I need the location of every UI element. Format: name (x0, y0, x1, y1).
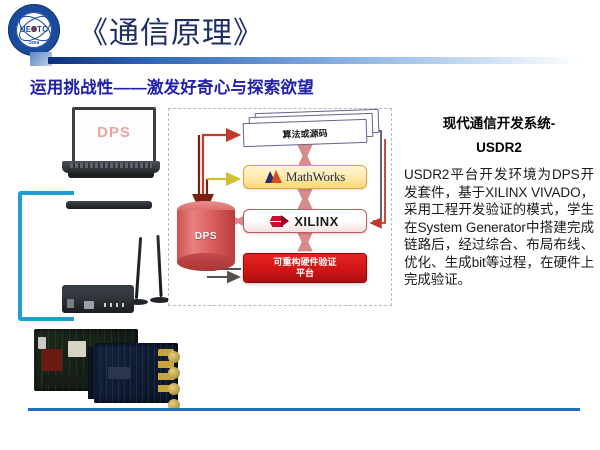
antenna-base-right (150, 297, 170, 303)
page-subtitle: 运用挑战性——激发好奇心与探索欲望 (30, 74, 314, 98)
sdr-chassis (62, 285, 134, 313)
description-panel: 现代通信开发系统- USDR2 USDR2平台开发环境为DPS开发套件，基于XI… (404, 112, 594, 289)
laptop-foot (68, 173, 154, 178)
description-heading: 现代通信开发系统- USDR2 (404, 112, 594, 160)
carrier-board-connector (38, 337, 46, 349)
laptop-screen-label: DPS (75, 124, 153, 141)
logo-acronym: UESTC (6, 25, 62, 34)
hardware-platform-line2: 平台 (296, 268, 314, 278)
laptop-photo: DPS (62, 107, 160, 187)
sdr-device-photo (62, 201, 168, 313)
hardware-platform-box[interactable]: 可重构硬件验证 平台 (243, 253, 367, 283)
xilinx-box[interactable]: XILINX (243, 209, 367, 233)
sma-connector-2 (168, 367, 180, 379)
dps-cylinder-bottom (177, 253, 235, 271)
footer-divider (28, 408, 580, 411)
rf-board-chip (108, 367, 130, 379)
dps-database-cylinder[interactable]: DPS (177, 201, 235, 271)
laptop-screen: DPS (72, 107, 156, 165)
fpga-board-photo (22, 327, 188, 409)
sdr-lid (66, 201, 152, 209)
description-body: USDR2平台开发环境为DPS开发套件，基于XILINX VIVADO，采用工程… (404, 166, 594, 289)
page-title: 《通信原理》 (78, 8, 264, 52)
slide-canvas: UESTC 1956 《通信原理》 运用挑战性——激发好奇心与探索欲望 DPS (0, 0, 600, 450)
sdr-led-strip (104, 303, 124, 307)
laptop-keyboard (70, 163, 152, 168)
logo-founded-year: 1956 (6, 40, 62, 45)
uestc-logo: UESTC 1956 (6, 2, 62, 58)
description-heading-line1: 现代通信开发系统- (404, 112, 594, 136)
hardware-platform-label: 可重构硬件验证 平台 (273, 257, 336, 279)
xilinx-label: XILINX (294, 214, 338, 229)
mathworks-box[interactable]: MathWorks (243, 165, 367, 189)
title-rule (48, 57, 580, 64)
rf-daughter-board (94, 343, 178, 403)
mathworks-label: MathWorks (286, 169, 345, 185)
sma-connector-3 (168, 383, 180, 395)
carrier-board-header (44, 375, 88, 385)
workflow-diagram: 算法或源码 MathWorks XILINX 可重构硬件验证 平台 DPS (168, 108, 392, 306)
mathworks-icon (265, 170, 282, 184)
antenna-left (135, 237, 142, 299)
antenna-right (156, 235, 162, 297)
xilinx-icon (271, 214, 289, 229)
hardware-platform-line1: 可重构硬件验证 (273, 257, 336, 267)
photo-column: DPS (18, 105, 168, 405)
dps-cylinder-label: DPS (177, 231, 235, 242)
description-heading-line2: USDR2 (404, 136, 594, 160)
sma-connector-1 (168, 351, 180, 363)
carrier-board-chip-2 (68, 341, 86, 357)
sdr-indicator (67, 299, 74, 308)
carrier-board-chip-1 (42, 349, 62, 371)
sdr-ethernet-port (84, 301, 94, 309)
algorithm-source-box[interactable]: 算法或源码 (243, 119, 368, 147)
